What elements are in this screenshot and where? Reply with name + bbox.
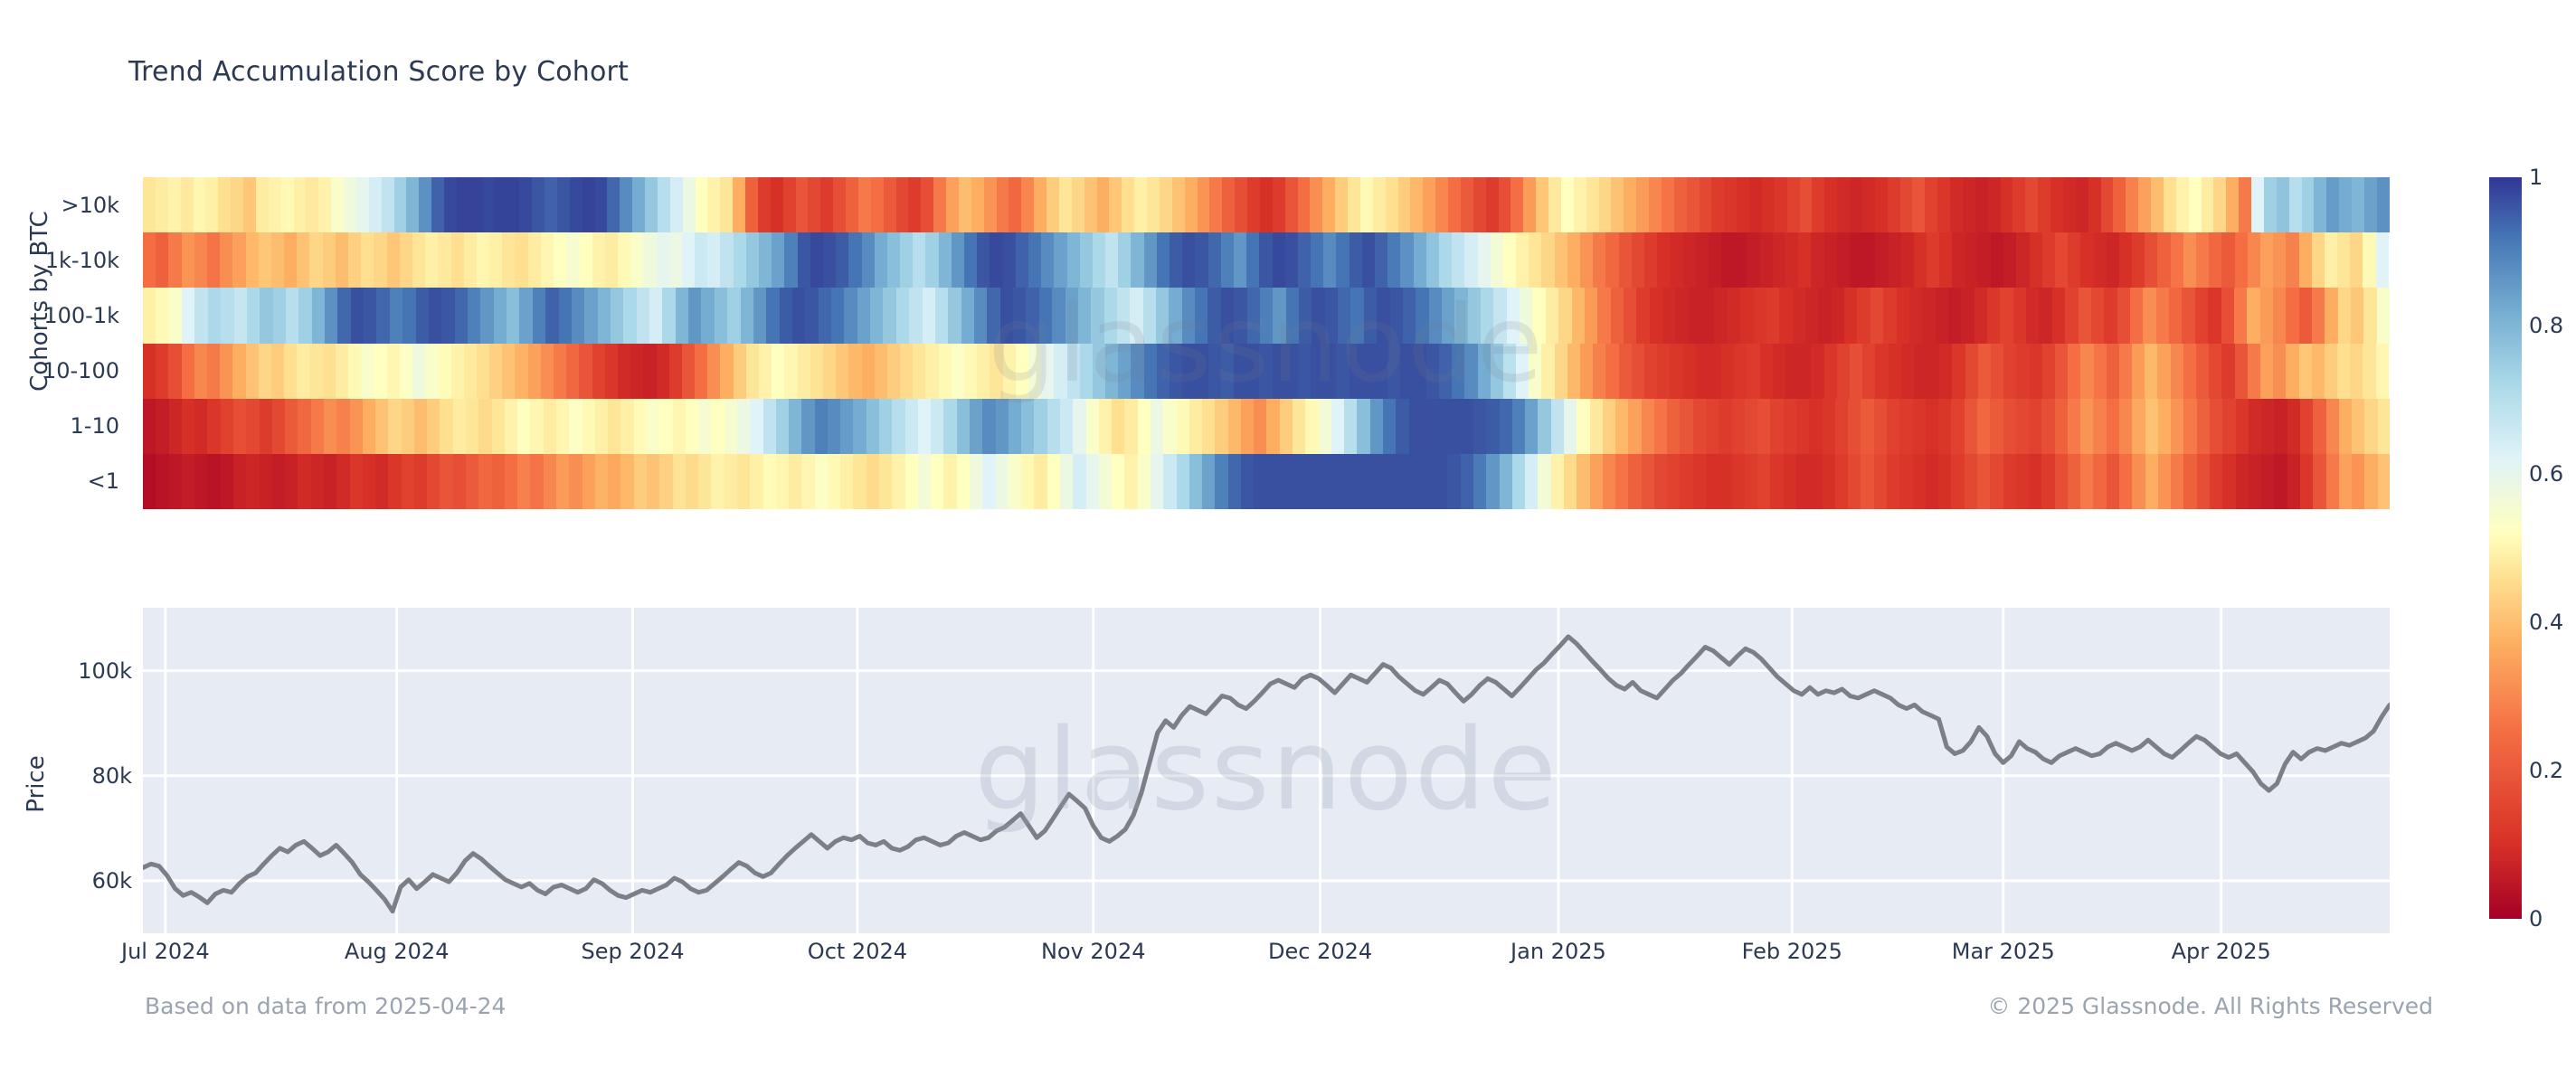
heatmap-cell[interactable]: [789, 399, 801, 454]
heatmap-cell[interactable]: [957, 454, 970, 509]
heatmap-cell[interactable]: [867, 399, 879, 454]
heatmap-cell[interactable]: [1577, 454, 1589, 509]
heatmap-cell[interactable]: [2277, 177, 2289, 232]
heatmap-cell[interactable]: [533, 288, 545, 343]
heatmap-cell[interactable]: [356, 177, 369, 232]
heatmap-cell[interactable]: [2210, 454, 2222, 509]
heatmap-cell[interactable]: [1198, 177, 1210, 232]
heatmap-cell[interactable]: [1348, 177, 1360, 232]
heatmap-cell[interactable]: [1009, 399, 1021, 454]
heatmap-cell[interactable]: [2195, 288, 2208, 343]
heatmap-cell[interactable]: [1650, 288, 1662, 343]
heatmap-cell[interactable]: [457, 177, 469, 232]
heatmap-cell[interactable]: [298, 454, 310, 509]
heatmap-cell[interactable]: [1093, 344, 1105, 399]
heatmap-cell[interactable]: [243, 177, 256, 232]
heatmap-cell[interactable]: [260, 454, 272, 509]
heatmap-cell[interactable]: [515, 232, 527, 288]
heatmap-cell[interactable]: [1000, 288, 1013, 343]
heatmap-cell[interactable]: [554, 344, 566, 399]
heatmap-cell[interactable]: [1952, 344, 1965, 399]
heatmap-cell[interactable]: [1787, 177, 1800, 232]
heatmap-cell[interactable]: [750, 399, 762, 454]
heatmap-cell[interactable]: [194, 344, 207, 399]
heatmap-cell[interactable]: [2132, 399, 2145, 454]
heatmap-cell[interactable]: [440, 399, 452, 454]
heatmap-cell[interactable]: [2183, 454, 2196, 509]
heatmap-cell[interactable]: [846, 177, 858, 232]
heatmap-cell[interactable]: [1273, 177, 1285, 232]
heatmap-cell[interactable]: [637, 288, 649, 343]
heatmap-cell[interactable]: [2013, 288, 2026, 343]
heatmap-cell[interactable]: [1525, 399, 1538, 454]
heatmap-cell[interactable]: [1112, 399, 1124, 454]
heatmap-cell[interactable]: [477, 232, 489, 288]
heatmap-cell[interactable]: [987, 288, 999, 343]
heatmap-cell[interactable]: [1693, 399, 1706, 454]
heatmap-cell[interactable]: [1737, 177, 1749, 232]
heatmap-cell[interactable]: [1084, 177, 1097, 232]
heatmap-cell[interactable]: [698, 399, 711, 454]
heatmap-cell[interactable]: [2107, 399, 2119, 454]
heatmap-cell[interactable]: [570, 177, 582, 232]
heatmap-cell[interactable]: [1848, 399, 1861, 454]
heatmap-cell[interactable]: [2042, 232, 2055, 288]
heatmap-cell[interactable]: [1323, 344, 1336, 399]
heatmap-cell[interactable]: [1835, 399, 1848, 454]
heatmap-cell[interactable]: [2171, 454, 2183, 509]
heatmap-cell[interactable]: [1065, 288, 1078, 343]
heatmap-cell[interactable]: [1991, 232, 2003, 288]
heatmap-cell[interactable]: [566, 344, 579, 399]
heatmap-cell[interactable]: [246, 344, 259, 399]
heatmap-cell[interactable]: [2183, 399, 2196, 454]
heatmap-cell[interactable]: [815, 454, 828, 509]
heatmap-cell[interactable]: [1047, 454, 1060, 509]
heatmap-cell[interactable]: [1861, 399, 1873, 454]
heatmap-cell[interactable]: [2065, 288, 2078, 343]
heatmap-cell[interactable]: [683, 177, 696, 232]
heatmap-cell[interactable]: [1927, 232, 1939, 288]
heatmap-cell[interactable]: [1696, 232, 1709, 288]
heatmap-cell[interactable]: [309, 232, 322, 288]
heatmap-cell[interactable]: [1936, 288, 1948, 343]
heatmap-cell[interactable]: [673, 399, 686, 454]
heatmap-cell[interactable]: [557, 177, 570, 232]
heatmap-cell[interactable]: [1689, 288, 1701, 343]
heatmap-cell[interactable]: [208, 288, 221, 343]
heatmap-cell[interactable]: [2076, 177, 2088, 232]
heatmap-cell[interactable]: [1555, 232, 1567, 288]
heatmap-cell[interactable]: [1285, 232, 1298, 288]
heatmap-cell[interactable]: [143, 399, 156, 454]
heatmap-cell[interactable]: [336, 344, 348, 399]
heatmap-cell[interactable]: [2312, 288, 2325, 343]
heatmap-cell[interactable]: [1285, 344, 1298, 399]
heatmap-cell[interactable]: [194, 232, 207, 288]
heatmap-cell[interactable]: [1280, 454, 1293, 509]
heatmap-cell[interactable]: [1632, 344, 1644, 399]
heatmap-cell[interactable]: [2189, 177, 2202, 232]
heatmap-cell[interactable]: [2299, 288, 2312, 343]
heatmap-cell[interactable]: [1362, 232, 1375, 288]
heatmap-cell[interactable]: [1798, 232, 1811, 288]
heatmap-cell[interactable]: [1507, 288, 1520, 343]
heatmap-cell[interactable]: [1693, 454, 1706, 509]
heatmap-cell[interactable]: [1700, 177, 1712, 232]
heatmap-cell[interactable]: [361, 232, 374, 288]
heatmap-cell[interactable]: [1034, 399, 1046, 454]
heatmap-cell[interactable]: [857, 288, 870, 343]
heatmap-cell[interactable]: [745, 177, 758, 232]
heatmap-cell[interactable]: [306, 177, 318, 232]
heatmap-cell[interactable]: [2352, 177, 2364, 232]
heatmap-cell[interactable]: [659, 454, 672, 509]
heatmap-cell[interactable]: [1177, 454, 1189, 509]
price-plot[interactable]: glassnode: [143, 608, 2390, 933]
heatmap-cell[interactable]: [1990, 454, 2003, 509]
heatmap-cell[interactable]: [657, 232, 669, 288]
heatmap-cell[interactable]: [1546, 288, 1558, 343]
heatmap-cell[interactable]: [2352, 399, 2364, 454]
heatmap-cell[interactable]: [1642, 399, 1654, 454]
heatmap-cell[interactable]: [1442, 288, 1454, 343]
heatmap-cell[interactable]: [1773, 232, 1785, 288]
heatmap-cell[interactable]: [1823, 399, 1835, 454]
heatmap-cell[interactable]: [2312, 232, 2325, 288]
heatmap-cell[interactable]: [169, 288, 182, 343]
heatmap-cell[interactable]: [336, 454, 349, 509]
heatmap-cell[interactable]: [620, 454, 633, 509]
heatmap-cell[interactable]: [1709, 232, 1721, 288]
heatmap-cell[interactable]: [2251, 177, 2264, 232]
heatmap-cell[interactable]: [867, 454, 879, 509]
heatmap-cell[interactable]: [406, 177, 419, 232]
heatmap-cell[interactable]: [1387, 232, 1400, 288]
heatmap-cell[interactable]: [913, 232, 925, 288]
heatmap-cell[interactable]: [1311, 344, 1323, 399]
heatmap-cell[interactable]: [1202, 454, 1215, 509]
heatmap-cell[interactable]: [2158, 454, 2171, 509]
heatmap-cell[interactable]: [1486, 399, 1499, 454]
heatmap-cell[interactable]: [964, 232, 977, 288]
heatmap-cell[interactable]: [1426, 232, 1439, 288]
heatmap-cell[interactable]: [734, 344, 746, 399]
heatmap-cell[interactable]: [2337, 344, 2350, 399]
heatmap-cell[interactable]: [453, 399, 466, 454]
heatmap-cell[interactable]: [649, 288, 662, 343]
heatmap-cell[interactable]: [1875, 344, 1888, 399]
heatmap-cell[interactable]: [2209, 344, 2221, 399]
heatmap-cell[interactable]: [647, 399, 659, 454]
heatmap-cell[interactable]: [2068, 232, 2080, 288]
heatmap-cell[interactable]: [990, 232, 1002, 288]
heatmap-cell[interactable]: [1435, 177, 1448, 232]
heatmap-cell[interactable]: [1580, 232, 1593, 288]
heatmap-cell[interactable]: [1529, 232, 1541, 288]
heatmap-cell[interactable]: [502, 344, 515, 399]
heatmap-cell[interactable]: [1448, 177, 1461, 232]
heatmap-cell[interactable]: [1323, 232, 1336, 288]
heatmap-cell[interactable]: [1028, 232, 1041, 288]
heatmap-cell[interactable]: [1800, 177, 1813, 232]
heatmap-cell[interactable]: [2068, 399, 2080, 454]
heatmap-cell[interactable]: [948, 288, 961, 343]
heatmap-cell[interactable]: [836, 232, 848, 288]
heatmap-cell[interactable]: [607, 177, 620, 232]
heatmap-cell[interactable]: [1021, 454, 1034, 509]
heatmap-cell[interactable]: [724, 454, 737, 509]
heatmap-cell[interactable]: [2239, 177, 2251, 232]
heatmap-cell[interactable]: [400, 344, 412, 399]
heatmap-cell[interactable]: [2339, 454, 2352, 509]
heatmap-cell[interactable]: [1157, 232, 1170, 288]
heatmap-cell[interactable]: [1888, 177, 1900, 232]
heatmap-cell[interactable]: [468, 288, 480, 343]
heatmap-cell[interactable]: [1016, 344, 1028, 399]
heatmap-cell[interactable]: [1080, 232, 1093, 288]
heatmap-cell[interactable]: [466, 454, 478, 509]
heatmap-cell[interactable]: [1909, 288, 1922, 343]
heatmap-cell[interactable]: [643, 344, 656, 399]
heatmap-cell[interactable]: [595, 399, 608, 454]
heatmap-cell[interactable]: [2055, 399, 2068, 454]
heatmap-cell[interactable]: [1644, 232, 1657, 288]
heatmap-cell[interactable]: [1409, 454, 1422, 509]
heatmap-cell[interactable]: [1209, 177, 1222, 232]
heatmap-cell[interactable]: [1147, 177, 1160, 232]
heatmap-cell[interactable]: [1887, 454, 1899, 509]
heatmap-cell[interactable]: [1228, 399, 1241, 454]
heatmap-cell[interactable]: [909, 288, 922, 343]
heatmap-cell[interactable]: [1536, 177, 1548, 232]
heatmap-cell[interactable]: [2012, 177, 2025, 232]
heatmap-cell[interactable]: [1215, 399, 1227, 454]
heatmap-cell[interactable]: [2313, 454, 2325, 509]
heatmap-cell[interactable]: [1926, 454, 1938, 509]
heatmap-cell[interactable]: [2196, 232, 2209, 288]
heatmap-cell[interactable]: [1486, 177, 1499, 232]
heatmap-cell[interactable]: [1241, 399, 1254, 454]
heatmap-cell[interactable]: [2171, 344, 2183, 399]
heatmap-cell[interactable]: [1464, 344, 1477, 399]
heatmap-cell[interactable]: [1662, 288, 1675, 343]
heatmap-cell[interactable]: [1195, 344, 1207, 399]
heatmap-cell[interactable]: [387, 344, 400, 399]
heatmap-cell[interactable]: [1221, 232, 1234, 288]
heatmap-cell[interactable]: [2249, 454, 2261, 509]
heatmap-cell[interactable]: [440, 454, 452, 509]
heatmap-cell[interactable]: [1293, 454, 1305, 509]
heatmap-cell[interactable]: [2376, 232, 2389, 288]
heatmap-cell[interactable]: [579, 232, 592, 288]
heatmap-cell[interactable]: [1473, 454, 1486, 509]
heatmap-cell[interactable]: [272, 399, 285, 454]
heatmap-cell[interactable]: [1322, 177, 1335, 232]
heatmap-cell[interactable]: [931, 454, 943, 509]
heatmap-cell[interactable]: [1311, 232, 1323, 288]
heatmap-cell[interactable]: [1383, 399, 1396, 454]
heatmap-cell[interactable]: [1844, 288, 1857, 343]
heatmap-cell[interactable]: [1344, 399, 1357, 454]
heatmap-cell[interactable]: [2176, 177, 2189, 232]
heatmap-cell[interactable]: [823, 232, 836, 288]
heatmap-cell[interactable]: [194, 399, 207, 454]
heatmap-cell[interactable]: [1468, 288, 1481, 343]
heatmap-cell[interactable]: [1883, 288, 1896, 343]
heatmap-cell[interactable]: [1939, 232, 1952, 288]
heatmap-cell[interactable]: [324, 399, 336, 454]
heatmap-cell[interactable]: [1447, 399, 1460, 454]
heatmap-cell[interactable]: [592, 232, 605, 288]
heatmap-cell[interactable]: [1273, 288, 1285, 343]
heatmap-cell[interactable]: [763, 399, 776, 454]
heatmap-cell[interactable]: [1538, 399, 1550, 454]
heatmap-cell[interactable]: [2325, 288, 2337, 343]
heatmap-cell[interactable]: [2042, 344, 2055, 399]
heatmap-cell[interactable]: [939, 344, 952, 399]
heatmap-cell[interactable]: [2000, 288, 2012, 343]
heatmap-cell[interactable]: [1491, 344, 1503, 399]
heatmap-cell[interactable]: [1390, 288, 1403, 343]
heatmap-cell[interactable]: [905, 454, 918, 509]
heatmap-cell[interactable]: [1603, 399, 1615, 454]
heatmap-cell[interactable]: [1734, 232, 1747, 288]
heatmap-cell[interactable]: [2249, 399, 2261, 454]
heatmap-cell[interactable]: [1105, 232, 1118, 288]
heatmap-cell[interactable]: [220, 344, 232, 399]
heatmap-cell[interactable]: [1009, 177, 1021, 232]
heatmap-cell[interactable]: [1745, 454, 1757, 509]
heatmap-cell[interactable]: [156, 344, 168, 399]
heatmap-cell[interactable]: [1003, 344, 1016, 399]
heatmap-cell[interactable]: [908, 177, 921, 232]
heatmap-cell[interactable]: [2080, 344, 2093, 399]
heatmap-cell[interactable]: [2038, 177, 2050, 232]
heatmap-cell[interactable]: [1721, 232, 1734, 288]
heatmap-cell[interactable]: [1259, 344, 1272, 399]
heatmap-cell[interactable]: [2350, 232, 2363, 288]
heatmap-cell[interactable]: [1649, 177, 1662, 232]
heatmap-cell[interactable]: [181, 177, 194, 232]
heatmap-cell[interactable]: [1260, 177, 1273, 232]
heatmap-cell[interactable]: [1144, 232, 1157, 288]
heatmap-cell[interactable]: [1362, 344, 1375, 399]
heatmap-cell[interactable]: [759, 344, 772, 399]
heatmap-cell[interactable]: [1950, 177, 1963, 232]
heatmap-cell[interactable]: [1938, 454, 1951, 509]
heatmap-cell[interactable]: [1760, 344, 1773, 399]
heatmap-cell[interactable]: [519, 177, 532, 232]
heatmap-cell[interactable]: [2248, 232, 2260, 288]
heatmap-cell[interactable]: [1478, 344, 1491, 399]
heatmap-cell[interactable]: [1773, 344, 1785, 399]
heatmap-cell[interactable]: [285, 399, 298, 454]
heatmap-cell[interactable]: [297, 232, 309, 288]
heatmap-cell[interactable]: [982, 399, 995, 454]
heatmap-cell[interactable]: [1078, 288, 1091, 343]
heatmap-cell[interactable]: [1875, 232, 1888, 288]
heatmap-cell[interactable]: [1398, 177, 1411, 232]
heatmap-cell[interactable]: [444, 177, 457, 232]
heatmap-cell[interactable]: [611, 288, 623, 343]
heatmap-cell[interactable]: [1439, 232, 1452, 288]
heatmap-cell[interactable]: [2068, 344, 2080, 399]
heatmap-cell[interactable]: [1837, 177, 1850, 232]
heatmap-cell[interactable]: [2273, 232, 2286, 288]
heatmap-cell[interactable]: [1709, 344, 1721, 399]
heatmap-cell[interactable]: [1299, 288, 1312, 343]
heatmap-cell[interactable]: [2113, 177, 2126, 232]
heatmap-cell[interactable]: [1512, 399, 1525, 454]
heatmap-cell[interactable]: [750, 454, 762, 509]
heatmap-cell[interactable]: [2119, 399, 2132, 454]
heatmap-cell[interactable]: [2299, 344, 2312, 399]
heatmap-cell[interactable]: [1500, 454, 1512, 509]
heatmap-cell[interactable]: [1222, 177, 1235, 232]
heatmap-cell[interactable]: [2063, 177, 2076, 232]
heatmap-cell[interactable]: [414, 454, 427, 509]
heatmap-cell[interactable]: [1350, 232, 1362, 288]
heatmap-cell[interactable]: [2182, 288, 2194, 343]
heatmap-cell[interactable]: [324, 454, 336, 509]
heatmap-cell[interactable]: [763, 454, 776, 509]
heatmap-cell[interactable]: [143, 177, 156, 232]
heatmap-cell[interactable]: [382, 177, 394, 232]
heatmap-cell[interactable]: [921, 177, 933, 232]
heatmap-cell[interactable]: [453, 454, 466, 509]
heatmap-cell[interactable]: [388, 454, 401, 509]
heatmap-cell[interactable]: [833, 177, 846, 232]
heatmap-cell[interactable]: [1310, 177, 1322, 232]
heatmap-cell[interactable]: [169, 454, 182, 509]
heatmap-cell[interactable]: [2236, 399, 2249, 454]
heatmap-cell[interactable]: [2286, 344, 2298, 399]
heatmap-cell[interactable]: [1041, 232, 1054, 288]
heatmap-cell[interactable]: [532, 177, 545, 232]
heatmap-cell[interactable]: [1857, 288, 1870, 343]
heatmap-cell[interactable]: [1991, 344, 2003, 399]
heatmap-cell[interactable]: [2079, 288, 2091, 343]
heatmap-cell[interactable]: [1798, 344, 1811, 399]
heatmap-cell[interactable]: [974, 288, 987, 343]
heatmap-cell[interactable]: [1912, 177, 1925, 232]
heatmap-cell[interactable]: [1241, 454, 1254, 509]
heatmap-cell[interactable]: [2351, 288, 2363, 343]
heatmap-cell[interactable]: [569, 399, 582, 454]
heatmap-cell[interactable]: [733, 177, 745, 232]
heatmap-cell[interactable]: [1512, 454, 1525, 509]
heatmap-cell[interactable]: [618, 232, 630, 288]
heatmap-cell[interactable]: [2339, 177, 2352, 232]
heatmap-cell[interactable]: [2080, 232, 2093, 288]
heatmap-cell[interactable]: [1013, 288, 1026, 343]
heatmap-cell[interactable]: [2213, 177, 2226, 232]
heatmap-cell[interactable]: [530, 454, 543, 509]
heatmap-cell[interactable]: [1848, 454, 1861, 509]
heatmap-cell[interactable]: [2169, 288, 2182, 343]
heatmap-cell[interactable]: [579, 344, 592, 399]
heatmap-cell[interactable]: [559, 288, 572, 343]
heatmap-cell[interactable]: [1747, 344, 1759, 399]
heatmap-cell[interactable]: [1757, 454, 1770, 509]
heatmap-cell[interactable]: [1182, 232, 1195, 288]
heatmap-cell[interactable]: [2145, 344, 2157, 399]
heatmap-cell[interactable]: [2363, 288, 2376, 343]
heatmap-cell[interactable]: [707, 177, 720, 232]
heatmap-cell[interactable]: [801, 399, 814, 454]
heatmap-cell[interactable]: [2314, 177, 2326, 232]
